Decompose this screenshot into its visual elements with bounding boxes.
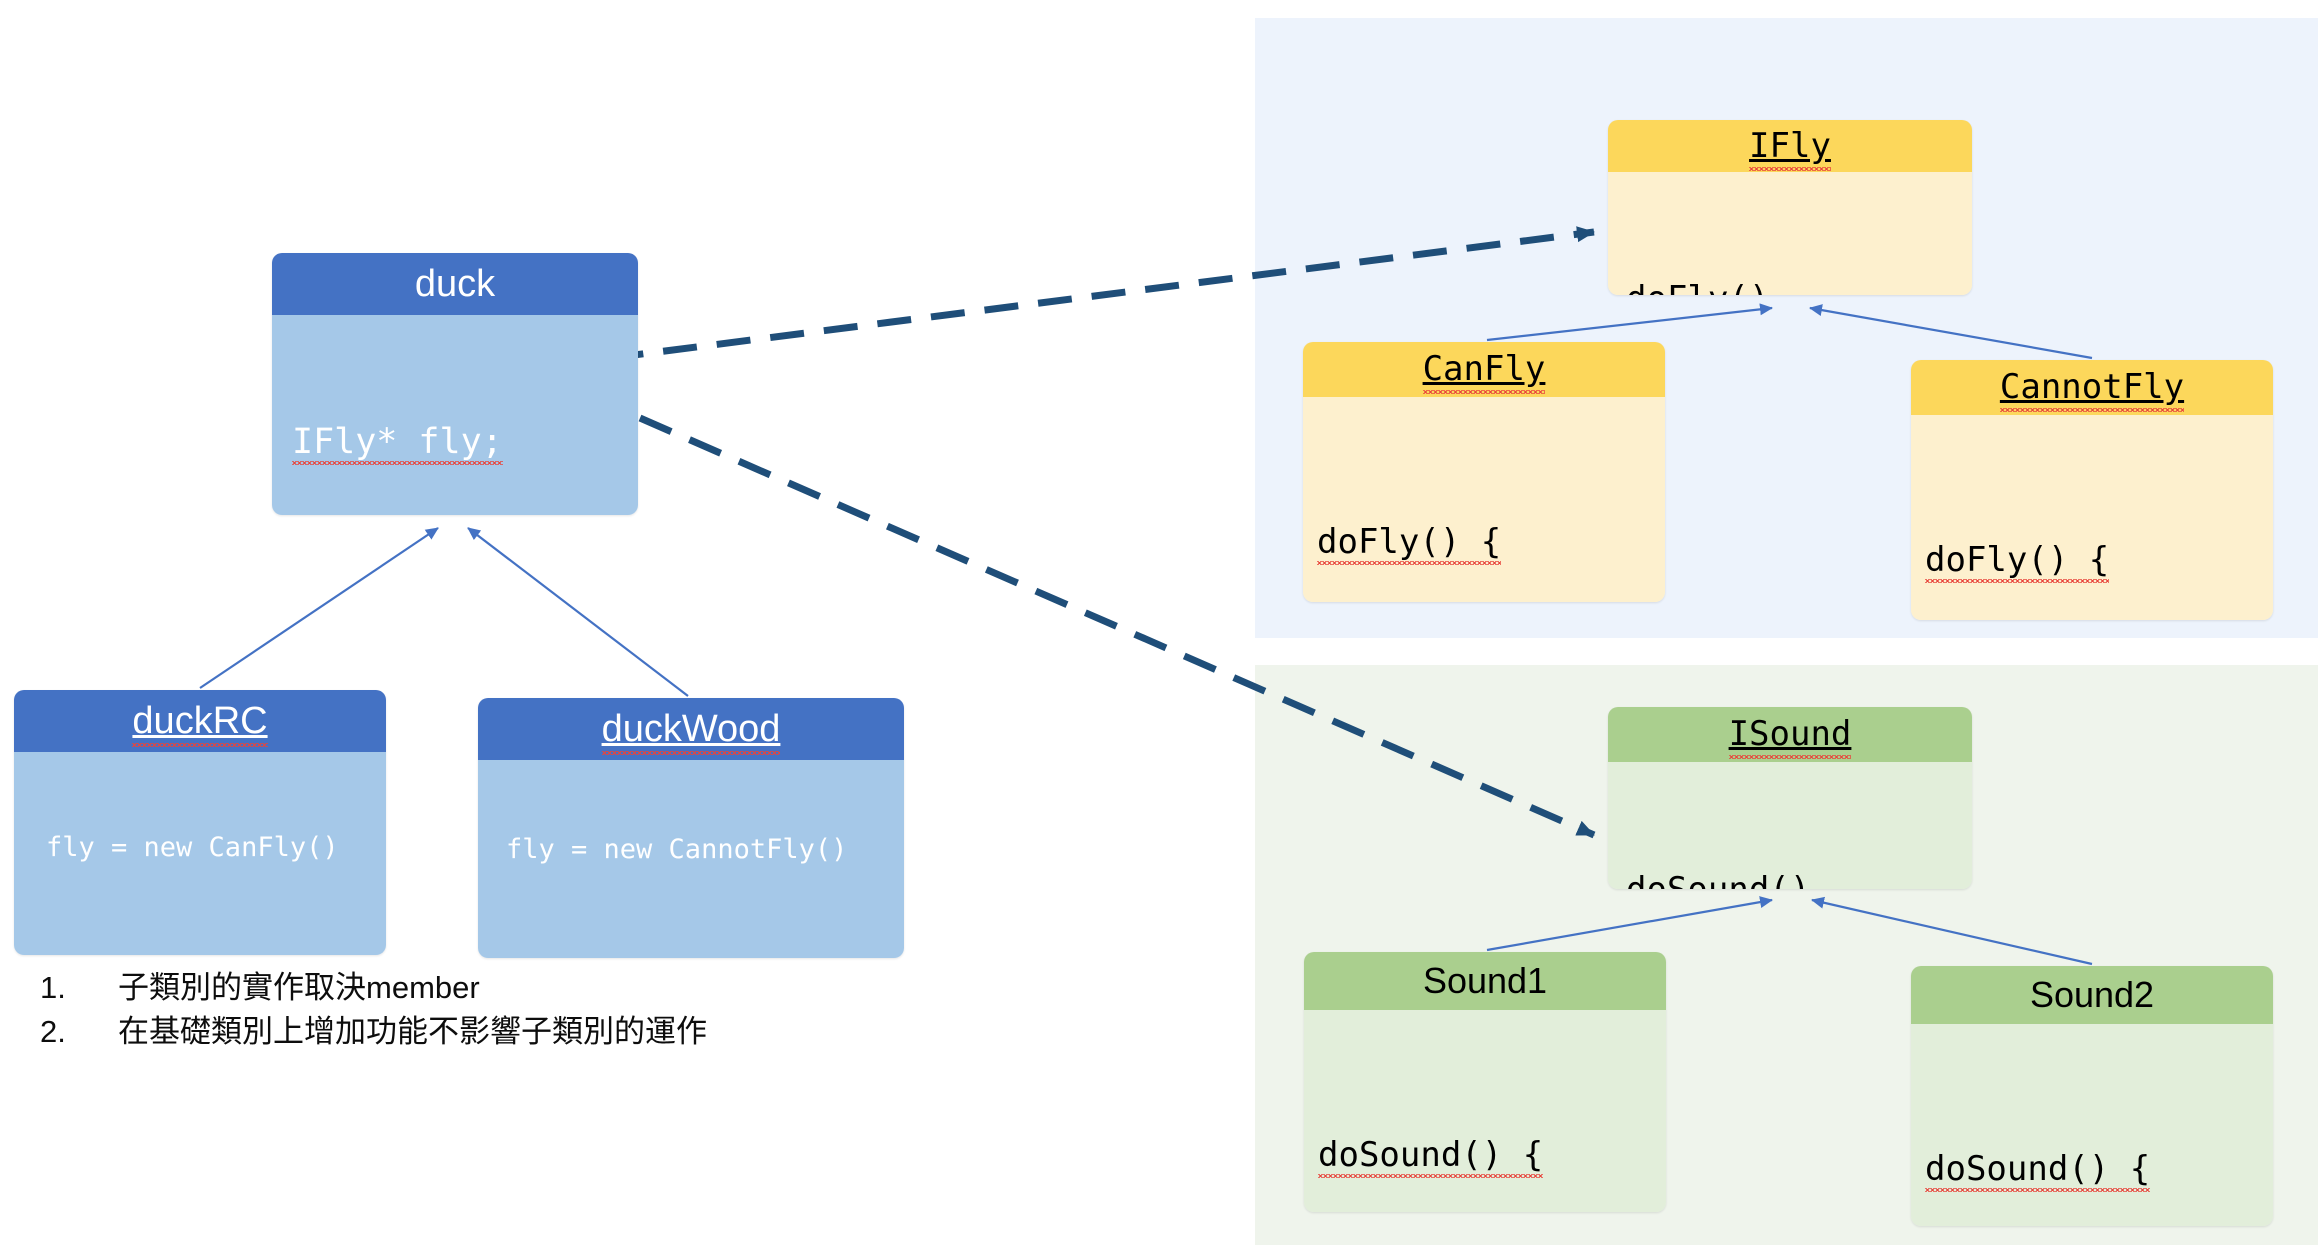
class-title-cannotfly: CannotFly xyxy=(1911,360,2273,415)
sound1-signature: doSound() { xyxy=(1318,1135,1543,1175)
link-duckrc-to-duck xyxy=(200,528,438,688)
cannotfly-signature: doFly() { xyxy=(1925,540,2109,580)
class-box-sound2[interactable]: Sound2 doSound() { “Sound2” } xyxy=(1911,966,2273,1226)
duckrc-assignment: fly = new CanFly() xyxy=(46,832,339,863)
duck-member-fly: IFly* fly; xyxy=(292,422,503,462)
class-box-sound1[interactable]: Sound1 doSound() { “Sound1” } xyxy=(1304,952,1666,1212)
class-title-isound: ISound xyxy=(1608,707,1972,762)
class-body-canfly: doFly() { “Can fly” } xyxy=(1303,397,1665,602)
class-body-duckrc: fly = new CanFly() xyxy=(14,752,386,955)
class-box-duck[interactable]: duck IFly* fly; Isound* sound; … xyxy=(272,253,638,515)
class-title-ifly: IFly xyxy=(1608,120,1972,172)
ifly-method: doFly() xyxy=(1626,279,1769,295)
class-body-isound: doSound() … xyxy=(1608,762,1972,889)
class-box-ifly[interactable]: IFly doFly() … xyxy=(1608,120,1972,295)
class-body-cannotfly: doFly() { “Cannot fly” } xyxy=(1911,415,2273,620)
class-body-sound1: doSound() { “Sound1” } xyxy=(1304,1010,1666,1212)
isound-method: doSound() xyxy=(1626,870,1810,889)
canfly-signature: doFly() { xyxy=(1317,522,1501,562)
class-title-sound2: Sound2 xyxy=(1911,966,2273,1024)
list-item: 1. 子類別的實作取決member xyxy=(40,966,940,1010)
class-box-cannotfly[interactable]: CannotFly doFly() { “Cannot fly” } xyxy=(1911,360,2273,620)
link-duckwood-to-duck xyxy=(468,528,688,696)
class-box-canfly[interactable]: CanFly doFly() { “Can fly” } xyxy=(1303,342,1665,602)
class-title-duckrc: duckRC xyxy=(14,690,386,752)
class-title-sound1: Sound1 xyxy=(1304,952,1666,1010)
note-number-2: 2. xyxy=(40,1010,118,1054)
note-text-1: 子類別的實作取決member xyxy=(118,966,940,1010)
class-body-duckwood: fly = new CannotFly() xyxy=(478,760,904,958)
note-number-1: 1. xyxy=(40,966,118,1010)
class-box-duckwood[interactable]: duckWood fly = new CannotFly() xyxy=(478,698,904,958)
notes-list: 1. 子類別的實作取決member 2. 在基礎類別上增加功能不影響子類別的運作 xyxy=(40,966,940,1054)
list-item: 2. 在基礎類別上增加功能不影響子類別的運作 xyxy=(40,1010,940,1054)
class-title-duck: duck xyxy=(272,253,638,315)
class-body-duck: IFly* fly; Isound* sound; … xyxy=(272,315,638,515)
class-body-sound2: doSound() { “Sound2” } xyxy=(1911,1024,2273,1226)
sound2-signature: doSound() { xyxy=(1925,1149,2150,1189)
note-text-2: 在基礎類別上增加功能不影響子類別的運作 xyxy=(118,1010,940,1054)
class-box-isound[interactable]: ISound doSound() … xyxy=(1608,707,1972,889)
class-title-canfly: CanFly xyxy=(1303,342,1665,397)
diagram-canvas: IFly (dependency, dashed) --> ISound (de… xyxy=(0,0,2318,1258)
class-title-duckwood: duckWood xyxy=(478,698,904,760)
class-body-ifly: doFly() … xyxy=(1608,172,1972,295)
duckwood-assignment: fly = new CannotFly() xyxy=(506,834,847,865)
class-box-duckrc[interactable]: duckRC fly = new CanFly() xyxy=(14,690,386,955)
